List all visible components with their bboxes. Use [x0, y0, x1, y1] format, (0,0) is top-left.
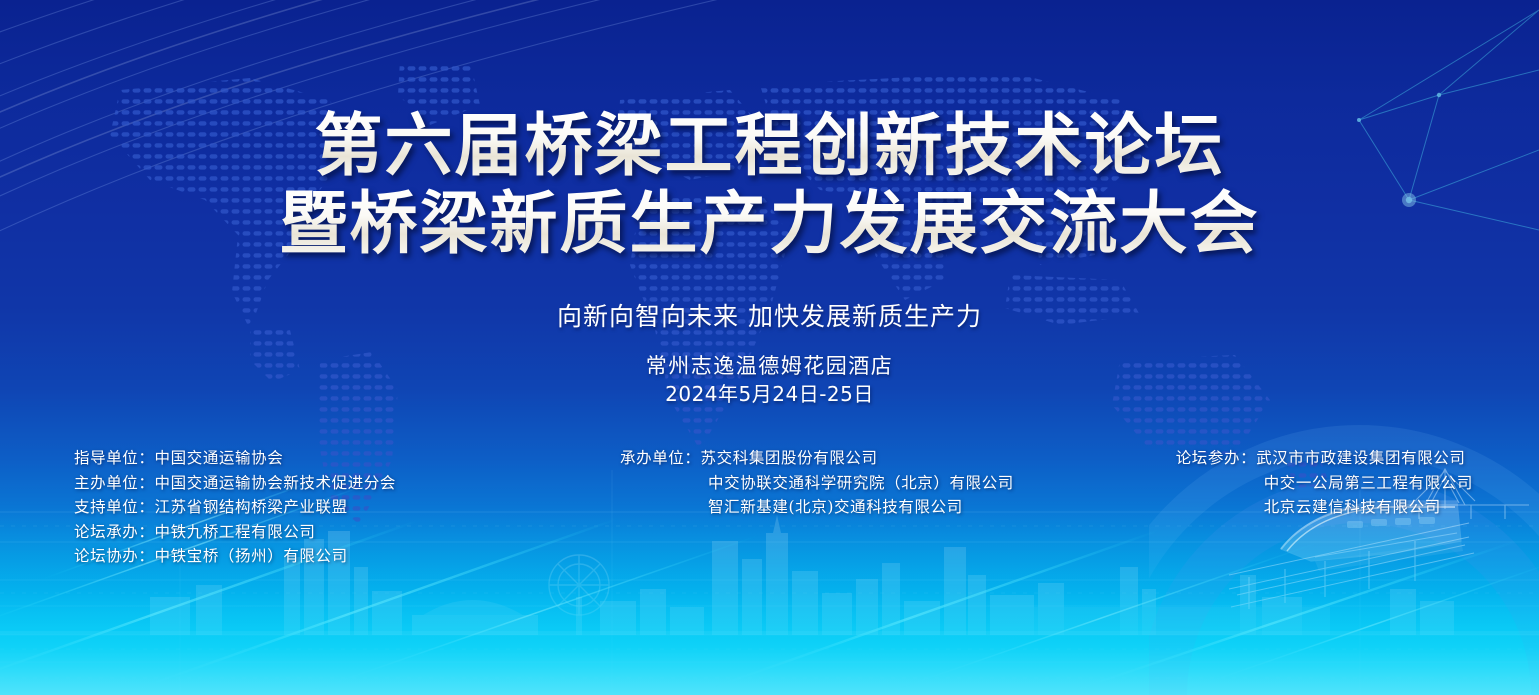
- credit-row: 论坛协办：中铁宝桥（扬州）有限公司: [74, 544, 396, 569]
- credit-row: 论坛承办：中铁九桥工程有限公司: [74, 520, 396, 545]
- credit-value: 中交协联交通科学研究院（北京）有限公司: [708, 471, 1014, 496]
- credit-row: 论坛参办：武汉市市政建设集团有限公司: [1176, 446, 1473, 471]
- credit-value: 中交一公局第三工程有限公司: [1264, 471, 1473, 496]
- credit-value: 中铁宝桥（扬州）有限公司: [155, 544, 348, 569]
- credit-row: 智汇新基建(北京)交通科技有限公司: [620, 495, 1014, 520]
- event-date: 2024年5月24日-25日: [0, 380, 1539, 408]
- credit-row: 中交协联交通科学研究院（北京）有限公司: [620, 471, 1014, 496]
- credit-label: 论坛承办：: [74, 520, 155, 545]
- title-line-1: 第六届桥梁工程创新技术论坛: [0, 108, 1539, 186]
- credits-column-left: 指导单位：中国交通运输协会 主办单位：中国交通运输协会新技术促进分会 支持单位：…: [74, 446, 396, 569]
- credit-row: 主办单位：中国交通运输协会新技术促进分会: [74, 471, 396, 496]
- credit-indent: [620, 495, 708, 520]
- conference-poster: 第六届桥梁工程创新技术论坛 暨桥梁新质生产力发展交流大会 向新向智向未来 加快发…: [0, 0, 1539, 695]
- credit-value: 苏交科集团股份有限公司: [701, 446, 878, 471]
- credit-value: 北京云建信科技有限公司: [1264, 495, 1441, 520]
- credit-value: 中国交通运输协会: [155, 446, 284, 471]
- credit-row: 北京云建信科技有限公司: [1176, 495, 1473, 520]
- credit-row: 承办单位：苏交科集团股份有限公司: [620, 446, 1014, 471]
- venue-name: 常州志逸温德姆花园酒店: [0, 352, 1539, 380]
- credit-indent: [620, 471, 708, 496]
- credit-label: 指导单位：: [74, 446, 155, 471]
- credit-label: 论坛参办：: [1176, 446, 1257, 471]
- credit-row: 指导单位：中国交通运输协会: [74, 446, 396, 471]
- credit-value: 中国交通运输协会新技术促进分会: [155, 471, 397, 496]
- slogan: 向新向智向未来 加快发展新质生产力: [0, 297, 1539, 333]
- credits-column-right: 论坛参办：武汉市市政建设集团有限公司 中交一公局第三工程有限公司 北京云建信科技…: [1176, 446, 1473, 520]
- credit-value: 江苏省钢结构桥梁产业联盟: [155, 495, 348, 520]
- poster-content: 第六届桥梁工程创新技术论坛 暨桥梁新质生产力发展交流大会 向新向智向未来 加快发…: [0, 0, 1539, 695]
- credit-value: 智汇新基建(北京)交通科技有限公司: [708, 495, 963, 520]
- credit-label: 支持单位：: [74, 495, 155, 520]
- credit-value: 中铁九桥工程有限公司: [155, 520, 316, 545]
- credit-label: 主办单位：: [74, 471, 155, 496]
- credits-column-middle: 承办单位：苏交科集团股份有限公司 中交协联交通科学研究院（北京）有限公司 智汇新…: [620, 446, 1014, 520]
- credit-indent: [1176, 495, 1264, 520]
- title-line-2: 暨桥梁新质生产力发展交流大会: [0, 186, 1539, 264]
- credit-label: 承办单位：: [620, 446, 701, 471]
- credit-label: 论坛协办：: [74, 544, 155, 569]
- credit-value: 武汉市市政建设集团有限公司: [1256, 446, 1465, 471]
- main-title: 第六届桥梁工程创新技术论坛 暨桥梁新质生产力发展交流大会: [0, 108, 1539, 264]
- credit-row: 支持单位：江苏省钢结构桥梁产业联盟: [74, 495, 396, 520]
- credit-indent: [1176, 471, 1264, 496]
- venue-and-date: 常州志逸温德姆花园酒店 2024年5月24日-25日: [0, 352, 1539, 408]
- credit-row: 中交一公局第三工程有限公司: [1176, 471, 1473, 496]
